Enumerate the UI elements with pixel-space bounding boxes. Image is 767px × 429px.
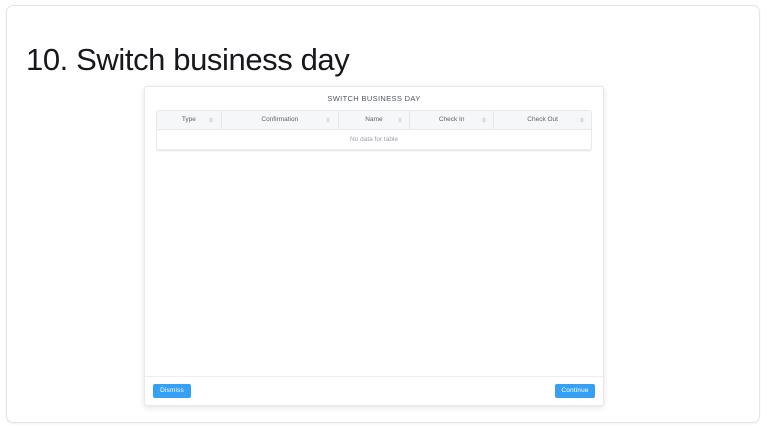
switch-business-day-modal: SWITCH BUSINESS DAY xyxy=(144,86,604,406)
modal-body: Type Confirmation xyxy=(145,110,603,376)
reservations-table: Type Confirmation xyxy=(157,111,591,150)
column-header-confirmation[interactable]: Confirmation xyxy=(221,111,338,129)
column-header-label: Type xyxy=(182,116,196,123)
modal-footer: Dismiss Continue xyxy=(145,376,603,405)
dismiss-button[interactable]: Dismiss xyxy=(153,384,191,398)
table-empty-row: No data for table xyxy=(157,129,591,149)
reservations-table-container: Type Confirmation xyxy=(156,110,592,151)
table-head: Type Confirmation xyxy=(157,111,591,129)
column-header-check-out[interactable]: Check Out xyxy=(494,111,591,129)
column-header-check-in[interactable]: Check In xyxy=(410,111,494,129)
slide-frame: 10. Switch business day SWITCH BUSINESS … xyxy=(6,5,760,423)
column-header-label: Check In xyxy=(439,116,465,123)
modal-title: SWITCH BUSINESS DAY xyxy=(327,94,420,103)
column-header-label: Confirmation xyxy=(261,116,298,123)
sort-updown-icon[interactable] xyxy=(326,115,331,124)
sort-updown-icon[interactable] xyxy=(579,115,584,124)
modal-header: SWITCH BUSINESS DAY xyxy=(145,87,603,110)
column-header-type[interactable]: Type xyxy=(157,111,221,129)
column-header-name[interactable]: Name xyxy=(338,111,409,129)
sort-updown-icon[interactable] xyxy=(209,115,214,124)
column-header-label: Check Out xyxy=(527,116,558,123)
sort-updown-icon[interactable] xyxy=(397,115,402,124)
page-title: 10. Switch business day xyxy=(26,39,349,81)
table-header-row: Type Confirmation xyxy=(157,111,591,129)
column-header-label: Name xyxy=(365,116,382,123)
table-body: No data for table xyxy=(157,129,591,149)
empty-state-message: No data for table xyxy=(157,129,591,149)
continue-button[interactable]: Continue xyxy=(555,384,595,398)
sort-updown-icon[interactable] xyxy=(481,115,486,124)
